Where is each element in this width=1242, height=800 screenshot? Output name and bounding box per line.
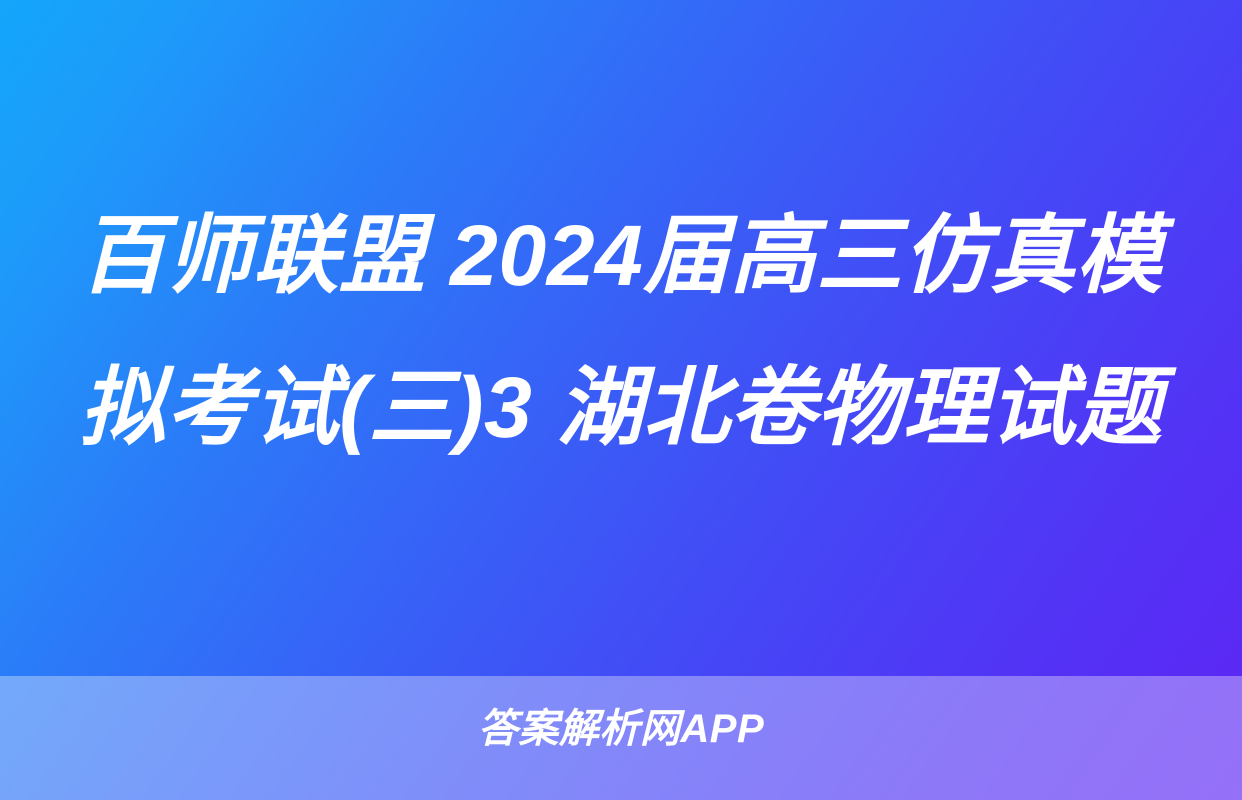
page-title: 百师联盟 2024届高三仿真模拟考试(三)3 湖北卷物理试题	[0, 180, 1242, 484]
cover-card: 百师联盟 2024届高三仿真模拟考试(三)3 湖北卷物理试题 答案解析网APP	[0, 0, 1242, 800]
watermark-app-label: 答案解析网APP	[0, 703, 1242, 755]
